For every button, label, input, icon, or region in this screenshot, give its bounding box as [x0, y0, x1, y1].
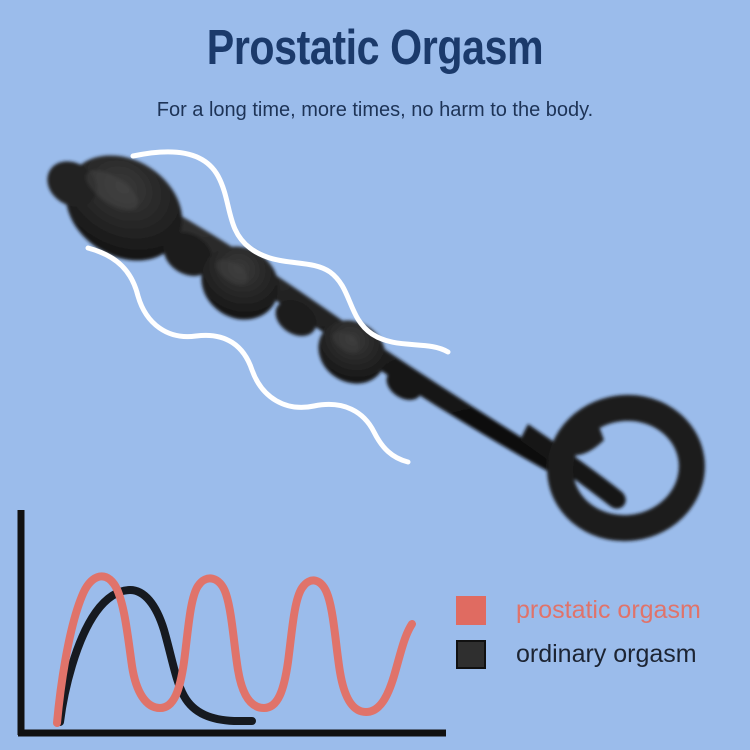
legend-item-ordinary: ordinary orgasm — [456, 632, 746, 676]
chart-series-ordinary — [60, 590, 252, 722]
product-highlight-2 — [212, 255, 252, 290]
page-subtitle: For a long time, more times, no harm to … — [0, 97, 750, 123]
product-neck-3 — [381, 364, 427, 407]
product-tip — [39, 152, 105, 216]
product-body — [39, 134, 700, 537]
product-neck-2 — [269, 293, 323, 344]
vibration-waves — [88, 152, 448, 462]
product-shaft-tip — [520, 424, 626, 509]
product-highlight-1 — [80, 163, 144, 217]
chart-legend: prostatic orgasm ordinary orgasm — [456, 588, 746, 676]
promo-banner: Prostatic Orgasm For a long time, more t… — [0, 0, 750, 750]
legend-label-prostatic: prostatic orgasm — [516, 596, 701, 625]
product-bead-2 — [187, 232, 292, 334]
product-highlight-3 — [329, 327, 363, 357]
wave-upper — [133, 152, 448, 352]
product-bead-1 — [46, 134, 202, 282]
product-shaft — [117, 191, 573, 481]
orgasm-comparison-chart — [0, 490, 470, 750]
legend-item-prostatic: prostatic orgasm — [456, 588, 746, 632]
legend-swatch-prostatic — [456, 596, 486, 625]
legend-swatch-ordinary — [456, 640, 486, 669]
product-pull-ring — [552, 399, 699, 536]
product-neck-1 — [155, 223, 220, 285]
product-bead-3 — [306, 308, 397, 396]
legend-label-ordinary: ordinary orgasm — [516, 640, 697, 669]
wave-lower — [88, 248, 408, 462]
product-ring-joint — [566, 418, 604, 455]
page-title: Prostatic Orgasm — [60, 20, 690, 76]
